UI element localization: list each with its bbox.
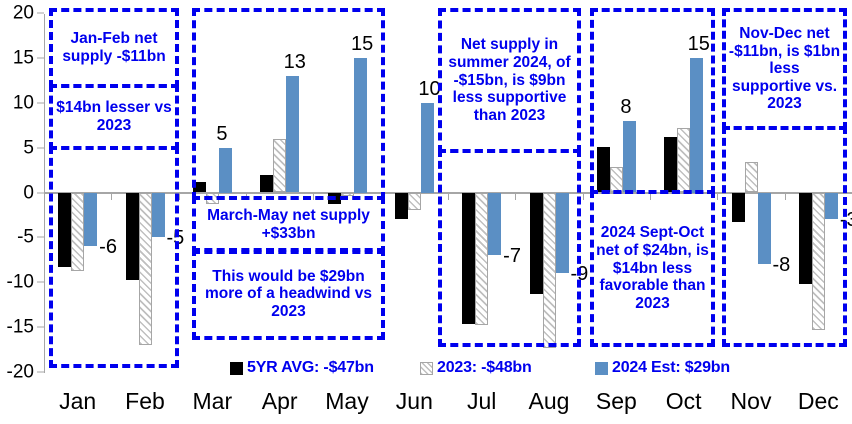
legend-item-avg[interactable]: 5YR AVG: -$47bn <box>230 359 374 377</box>
annotation-jan-feb-outline <box>49 146 179 368</box>
x-tick-mark <box>583 193 584 200</box>
annotation-text: This would be $29bn more of a headwind v… <box>198 268 379 321</box>
annotation-text: $14bn lesser vs 2023 <box>55 99 173 134</box>
annotation-sept-oct-outline <box>590 8 715 194</box>
annotation-jan-feb-net-supply: Jan-Feb net supply -$11bn <box>49 8 179 88</box>
y-tick-mark <box>37 57 44 58</box>
bar-jun-y2024 <box>421 103 434 193</box>
bar-jun-y2023 <box>408 193 421 211</box>
chart-legend: 5YR AVG: -$47bn2023: -$48bn2024 Est: $29… <box>195 357 665 381</box>
annotation-text: 2024 Sept-Oct net of $24bn, is $14bn les… <box>596 224 709 312</box>
bar-jun-avg <box>395 193 408 220</box>
x-tick-mark <box>179 193 180 200</box>
legend-label: 2024 Est: $29bn <box>612 359 730 377</box>
legend-item-y2024[interactable]: 2024 Est: $29bn <box>595 359 730 377</box>
annotation-march-may-outline <box>192 8 385 200</box>
x-tick-mark <box>717 193 718 200</box>
y-tick-mark <box>37 282 44 283</box>
y-tick-label: 5 <box>0 138 34 157</box>
legend-label: 5YR AVG: -$47bn <box>247 359 374 377</box>
annotation-sept-oct-net: 2024 Sept-Oct net of $24bn, is $14bn les… <box>590 190 715 347</box>
annotation-text: Net supply in summer 2024, of -$15bn, is… <box>444 36 575 124</box>
y-tick-label: -15 <box>0 318 34 337</box>
annotation-text: Jan-Feb net supply -$11bn <box>55 30 173 65</box>
legend-label: 2023: -$48bn <box>437 359 532 377</box>
x-tick-mark <box>44 193 45 200</box>
y-tick-mark <box>37 102 44 103</box>
y-tick-label: -20 <box>0 363 34 382</box>
x-axis-label-dec: Dec <box>778 390 852 413</box>
y-tick-mark <box>37 13 44 14</box>
annotation-march-may-net-supply: March-May net supply +$33bn <box>192 196 385 254</box>
annotation-summer-outline <box>438 149 581 347</box>
y-tick-mark <box>37 147 44 148</box>
annotation-nov-dec-outline <box>722 126 847 347</box>
y-tick-mark <box>37 372 44 373</box>
legend-item-y2023[interactable]: 2023: -$48bn <box>420 359 532 377</box>
legend-swatch-icon <box>595 362 608 375</box>
annotation-nov-dec-net: Nov-Dec net -$11bn, is $1bn less support… <box>722 8 847 130</box>
annotation-summer-net-supply: Net supply in summer 2024, of -$15bn, is… <box>438 8 581 153</box>
y-tick-label: 0 <box>0 183 34 202</box>
annotation-jan-feb-lesser-vs-2023: $14bn lesser vs 2023 <box>49 84 179 150</box>
annotation-text: March-May net supply +$33bn <box>198 207 379 242</box>
annotation-march-may-headwind: This would be $29bn more of a headwind v… <box>192 248 385 340</box>
annotation-text: Nov-Dec net -$11bn, is $1bn less support… <box>728 25 841 113</box>
y-tick-label: 10 <box>0 93 34 112</box>
y-tick-label: -10 <box>0 273 34 292</box>
y-tick-mark <box>37 237 44 238</box>
legend-swatch-icon <box>230 362 243 375</box>
y-tick-label: -5 <box>0 228 34 247</box>
y-tick-mark <box>37 327 44 328</box>
y-tick-label: 15 <box>0 48 34 67</box>
y-tick-label: 20 <box>0 4 34 23</box>
y-tick-mark <box>37 192 44 193</box>
bar-chart: 20151050-5-10-15-20 -6-55131510-7-9815-8… <box>0 0 852 424</box>
legend-swatch-icon <box>420 362 433 375</box>
